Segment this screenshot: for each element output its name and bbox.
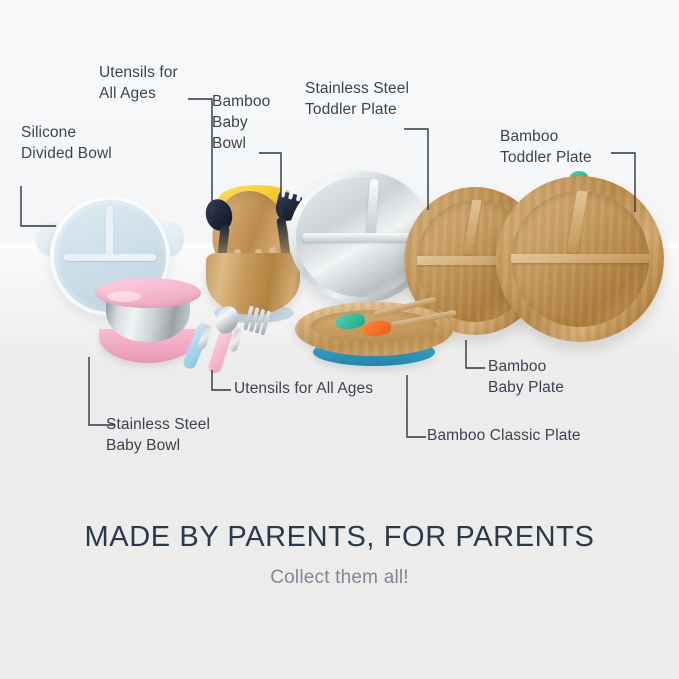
product-utensils-pastel bbox=[188, 310, 306, 372]
label-utensils-all-ages-bottom: Utensils for All Ages bbox=[234, 378, 373, 399]
label-silicone-divided-bowl: Silicone Divided Bowl bbox=[21, 122, 112, 164]
stainless-bowl-lid bbox=[95, 278, 201, 308]
stainless-plate-divider-vertical bbox=[366, 179, 379, 237]
label-utensils-all-ages-top: Utensils for All Ages bbox=[99, 62, 178, 104]
page-title: MADE BY PARENTS, FOR PARENTS bbox=[0, 521, 679, 554]
bamboo-classic-body bbox=[295, 302, 453, 356]
page-subtitle: Collect them all! bbox=[0, 567, 679, 589]
bamboo-plate-back-divider-vertical bbox=[463, 200, 483, 256]
label-bamboo-baby-bowl: Bamboo Baby Bowl bbox=[212, 91, 270, 154]
stainless-plate-divider-horizontal bbox=[302, 233, 422, 242]
product-bamboo-toddler-plate-front bbox=[496, 176, 664, 342]
label-stainless-baby-bowl: Stainless Steel Baby Bowl bbox=[106, 414, 210, 456]
stainless-bowl-lid-highlight bbox=[107, 291, 141, 302]
bamboo-plate-front-divider-horizontal bbox=[511, 254, 649, 264]
product-infographic: Silicone Divided Bowl Utensils for All A… bbox=[0, 0, 679, 679]
label-bamboo-baby-plate: Bamboo Baby Plate bbox=[488, 356, 564, 398]
bamboo-plate-front-inner bbox=[511, 191, 649, 327]
dark-fork-tine-gap-1 bbox=[280, 185, 287, 198]
bamboo-plate-front-divider-vertical bbox=[566, 191, 589, 254]
metal-fork-head bbox=[243, 305, 271, 336]
label-bamboo-classic-plate: Bamboo Classic Plate bbox=[427, 425, 581, 446]
label-stainless-toddler-plate: Stainless Steel Toddler Plate bbox=[305, 78, 409, 120]
product-bamboo-classic-plate bbox=[295, 300, 453, 372]
label-bamboo-toddler-plate: Bamboo Toddler Plate bbox=[500, 126, 592, 168]
